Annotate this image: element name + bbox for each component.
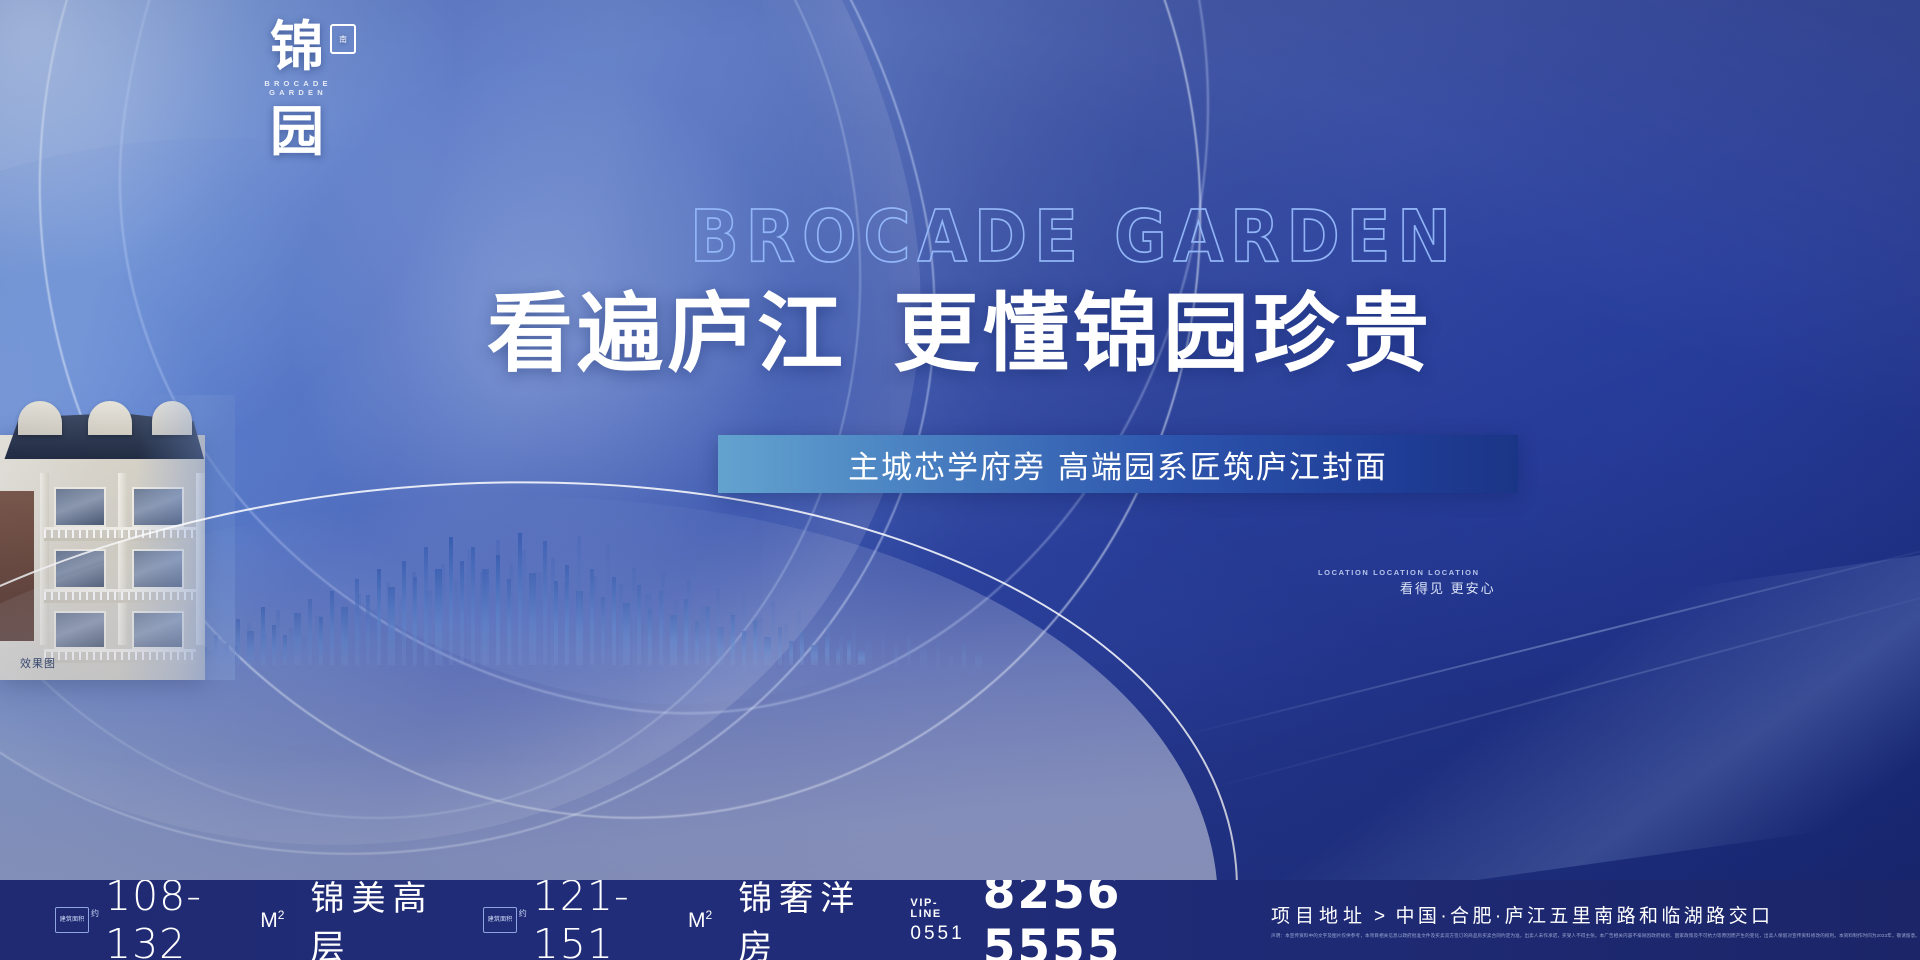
logo-char-bottom: 园 <box>238 103 358 159</box>
area-badge-icon: 建筑面积 <box>55 907 89 933</box>
address-arrow-icon: > <box>1374 906 1389 927</box>
phone-part-1: 8256 <box>983 880 1122 920</box>
product-item-1: 建筑面积 约 108-132 M2 锦美高层 <box>55 880 449 960</box>
product-name-1: 锦美高层 <box>310 880 448 960</box>
unit-letter: M <box>260 909 278 932</box>
vip-line-block: VIP-LINE 0551 <box>910 898 964 943</box>
hero-english-title: BROCADE GARDEN <box>690 196 1458 279</box>
product-unit-2: M2 <box>688 908 712 933</box>
location-tagline-cn: 看得见 更安心 <box>1400 578 1496 597</box>
unit-superscript: 2 <box>278 908 285 922</box>
product-item-2: 建筑面积 约 121-151 M2 锦奢洋房 <box>483 880 877 960</box>
area-badge-approx: 约 <box>519 908 527 919</box>
headline-part-2: 更懂锦园珍贵 <box>893 283 1433 384</box>
headline-part-1: 看遍庐江 <box>487 283 847 384</box>
phone-part-2: 5555 <box>983 920 1122 960</box>
product-area-2: 121-151 <box>533 880 683 960</box>
vip-line-label: VIP-LINE <box>910 898 964 920</box>
logo-seal-icon: 南 <box>330 24 356 54</box>
legal-disclaimer: 声明：本宣传资料中的文字及图片仅供参考，本项目相关信息以政府批准文件及买卖双方签… <box>1271 933 1920 939</box>
bottom-info-bar: 建筑面积 约 108-132 M2 锦美高层 建筑面积 约 121-151 M2… <box>0 880 1920 960</box>
product-unit-1: M2 <box>260 908 284 933</box>
vip-area-code: 0551 <box>910 924 964 943</box>
area-badge-text: 建筑面积 <box>487 916 512 923</box>
product-area-1: 108-132 <box>105 880 255 960</box>
address-line: 项目地址>中国·合肥·庐江五里南路和临湖路交口 <box>1271 901 1920 928</box>
area-badge-text: 建筑面积 <box>60 916 85 923</box>
hero-headline: 看遍庐江更懂锦园珍贵 <box>487 282 1433 386</box>
hero-sub-banner-text: 主城芯学府旁 高端园系匠筑庐江封面 <box>848 442 1388 487</box>
brand-logo: 锦 南 BROCADE GARDEN 园 <box>238 18 358 158</box>
logo-english-name: BROCADE GARDEN <box>238 79 358 97</box>
unit-superscript: 2 <box>706 908 713 922</box>
phone-number[interactable]: 82565555 <box>983 880 1241 960</box>
render-disclaimer-note: 效果图 <box>20 655 56 671</box>
poster-root: 效果图 锦 南 BROCADE GARDEN 园 BROCADE GARDEN … <box>0 0 1920 960</box>
address-label: 项目地址 <box>1271 906 1367 927</box>
area-badge-icon: 建筑面积 <box>483 907 517 933</box>
address-value: 中国·合肥·庐江五里南路和临湖路交口 <box>1396 906 1774 927</box>
location-tagline-en: LOCATION LOCATION LOCATION <box>1318 568 1480 577</box>
product-name-2: 锦奢洋房 <box>738 880 876 960</box>
address-block: 项目地址>中国·合肥·庐江五里南路和临湖路交口 声明：本宣传资料中的文字及图片仅… <box>1271 901 1920 939</box>
unit-letter: M <box>688 909 706 932</box>
area-badge-approx: 约 <box>91 908 99 919</box>
hero-sub-banner: 主城芯学府旁 高端园系匠筑庐江封面 <box>718 435 1518 493</box>
